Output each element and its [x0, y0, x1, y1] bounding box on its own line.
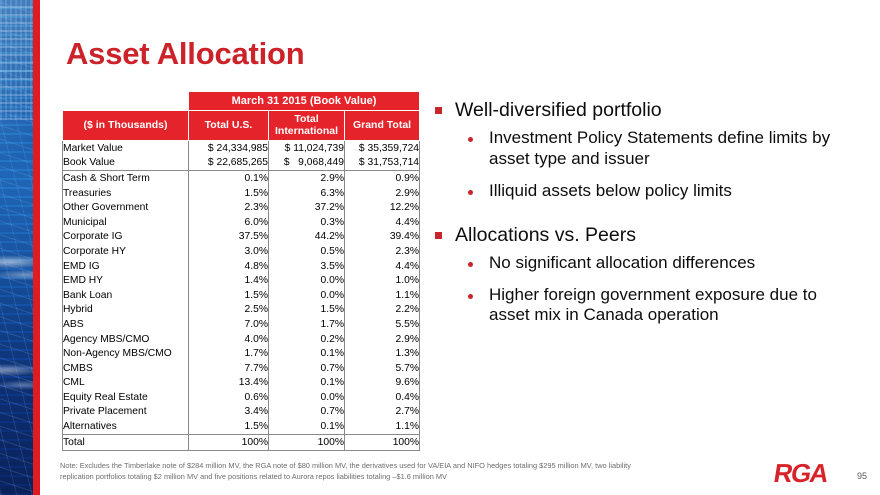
table-row: Agency MBS/CMO4.0%0.2%2.9%	[63, 332, 420, 347]
cell-grand-total: 12.2%	[345, 200, 420, 215]
table-row: Equity Real Estate0.6%0.0%0.4%	[63, 390, 420, 405]
table-header-columns-row: ($ in Thousands) Total U.S. Total Intern…	[63, 111, 420, 141]
column-header-label: ($ in Thousands)	[63, 111, 189, 141]
table-row: EMD IG4.8%3.5%4.4%	[63, 259, 420, 274]
column-header-grand-total: Grand Total	[345, 111, 420, 141]
cell-grand-total: 0.4%	[345, 390, 420, 405]
cell-total-international: $ 11,024,739	[269, 141, 345, 156]
cell-total-international: 0.1%	[269, 419, 345, 434]
row-label: Municipal	[63, 215, 189, 230]
table-row: Treasuries1.5%6.3%2.9%	[63, 186, 420, 201]
bullet-group-spacer	[432, 213, 872, 223]
table-header: March 31 2015 (Book Value) ($ in Thousan…	[63, 92, 420, 141]
square-bullet-icon	[435, 232, 442, 239]
table-row: Non-Agency MBS/CMO1.7%0.1%1.3%	[63, 346, 420, 361]
column-header-intl-line2: International	[275, 125, 338, 137]
table-row: Cash & Short Term0.1%2.9%0.9%	[63, 171, 420, 186]
cell-grand-total: $ 31,753,714	[345, 156, 420, 171]
cell-total-international: 0.0%	[269, 288, 345, 303]
row-label: Alternatives	[63, 419, 189, 434]
cell-total-us: 4.8%	[189, 259, 269, 274]
cell-grand-total: 0.9%	[345, 171, 420, 186]
cell-total-international: 0.1%	[269, 376, 345, 391]
cell-total-international: $ 9,068,449	[269, 156, 345, 171]
financial-graphic-image	[0, 0, 33, 495]
column-header-total-international: Total International	[269, 111, 345, 141]
page-number: 95	[857, 471, 867, 481]
cell-total-us: 6.0%	[189, 215, 269, 230]
cell-total-international: 0.5%	[269, 244, 345, 259]
row-label: CML	[63, 376, 189, 391]
cell-total-international: 0.0%	[269, 273, 345, 288]
bullet-level1-text: Well-diversified portfolio	[455, 98, 662, 122]
cell-grand-total: 1.1%	[345, 419, 420, 434]
cell-total-international: 2.9%	[269, 171, 345, 186]
asset-allocation-table: March 31 2015 (Book Value) ($ in Thousan…	[62, 91, 420, 451]
row-label: Treasuries	[63, 186, 189, 201]
bullet-level2-text: Illiquid assets below policy limits	[489, 181, 732, 202]
cell-grand-total: 2.9%	[345, 186, 420, 201]
row-label: Agency MBS/CMO	[63, 332, 189, 347]
cell-total-us: 7.7%	[189, 361, 269, 376]
table-row: Market Value$ 24,334,985$ 11,024,739$ 35…	[63, 141, 420, 156]
cell-total-us: $ 22,685,265	[189, 156, 269, 171]
table-row: EMD HY1.4%0.0%1.0%	[63, 273, 420, 288]
cell-grand-total: 1.1%	[345, 288, 420, 303]
bullet-level2: Investment Policy Statements define limi…	[468, 128, 872, 169]
table-row: Corporate IG37.5%44.2%39.4%	[63, 230, 420, 245]
cell-total-international: 0.1%	[269, 346, 345, 361]
bullet-level2: Higher foreign government exposure due t…	[468, 285, 872, 326]
cell-total-us: 100%	[189, 434, 269, 450]
cell-grand-total: 4.4%	[345, 215, 420, 230]
cell-grand-total: $ 35,359,724	[345, 141, 420, 156]
table-row: CMBS7.7%0.7%5.7%	[63, 361, 420, 376]
page-title: Asset Allocation	[66, 36, 305, 72]
cell-total-us: 7.0%	[189, 317, 269, 332]
row-label: EMD HY	[63, 273, 189, 288]
cell-total-international: 0.0%	[269, 390, 345, 405]
cell-total-international: 37.2%	[269, 200, 345, 215]
table-row: Municipal6.0%0.3%4.4%	[63, 215, 420, 230]
table-value-rows: Market Value$ 24,334,985$ 11,024,739$ 35…	[63, 141, 420, 171]
table-row: Hybrid2.5%1.5%2.2%	[63, 303, 420, 318]
row-label: Equity Real Estate	[63, 390, 189, 405]
cell-total-us: 13.4%	[189, 376, 269, 391]
cell-grand-total: 2.2%	[345, 303, 420, 318]
cell-total-us: 0.1%	[189, 171, 269, 186]
cell-total-international: 0.7%	[269, 405, 345, 420]
dot-bullet-icon	[468, 262, 473, 267]
table-row: Other Government2.3%37.2%12.2%	[63, 200, 420, 215]
row-label: Other Government	[63, 200, 189, 215]
cell-total-us: 1.7%	[189, 346, 269, 361]
table-row: ABS7.0%1.7%5.5%	[63, 317, 420, 332]
bullet-level2-text: No significant allocation differences	[489, 253, 755, 274]
cell-total-international: 44.2%	[269, 230, 345, 245]
cell-grand-total: 100%	[345, 434, 420, 450]
table-total-row: Total100%100%100%	[63, 434, 420, 450]
table-row: Corporate HY3.0%0.5%2.3%	[63, 244, 420, 259]
row-label: Market Value	[63, 141, 189, 156]
bullet-level1: Well-diversified portfolio	[432, 98, 872, 122]
cell-grand-total: 9.6%	[345, 376, 420, 391]
cell-total-us: $ 24,334,985	[189, 141, 269, 156]
dot-bullet-icon	[468, 294, 473, 299]
cell-total-international: 6.3%	[269, 186, 345, 201]
row-label: Corporate IG	[63, 230, 189, 245]
row-label: CMBS	[63, 361, 189, 376]
header-period-title: March 31 2015 (Book Value)	[189, 92, 420, 111]
slide-left-edge	[0, 0, 40, 495]
bullet-level1-text: Allocations vs. Peers	[455, 223, 636, 247]
cell-total-international: 0.7%	[269, 361, 345, 376]
cell-total-us: 1.5%	[189, 186, 269, 201]
column-header-intl-line1: Total	[294, 113, 318, 125]
asset-allocation-table-container: March 31 2015 (Book Value) ($ in Thousan…	[62, 91, 419, 451]
cell-grand-total: 5.5%	[345, 317, 420, 332]
cell-total-international: 0.2%	[269, 332, 345, 347]
cell-grand-total: 2.3%	[345, 244, 420, 259]
cell-total-us: 1.4%	[189, 273, 269, 288]
cell-total-us: 3.4%	[189, 405, 269, 420]
bullet-level1: Allocations vs. Peers	[432, 223, 872, 247]
row-label: EMD IG	[63, 259, 189, 274]
cell-total-us: 37.5%	[189, 230, 269, 245]
cell-total-us: 3.0%	[189, 244, 269, 259]
footnote: Note: Excludes the Timberlake note of $2…	[60, 461, 650, 482]
table-row: Bank Loan1.5%0.0%1.1%	[63, 288, 420, 303]
row-label: Cash & Short Term	[63, 171, 189, 186]
cell-grand-total: 2.9%	[345, 332, 420, 347]
cell-total-us: 0.6%	[189, 390, 269, 405]
bullet-level2-text: Investment Policy Statements define limi…	[489, 128, 859, 169]
red-accent-bar	[33, 0, 40, 495]
row-label: Hybrid	[63, 303, 189, 318]
bullet-level2: No significant allocation differences	[468, 253, 872, 274]
row-label: Bank Loan	[63, 288, 189, 303]
cell-grand-total: 1.3%	[345, 346, 420, 361]
row-label: Non-Agency MBS/CMO	[63, 346, 189, 361]
cell-grand-total: 2.7%	[345, 405, 420, 420]
cell-grand-total: 39.4%	[345, 230, 420, 245]
cell-grand-total: 1.0%	[345, 273, 420, 288]
cell-total-international: 100%	[269, 434, 345, 450]
table-row: Book Value$ 22,685,265$ 9,068,449$ 31,75…	[63, 156, 420, 171]
cell-total-us: 2.5%	[189, 303, 269, 318]
bullet-level2: Illiquid assets below policy limits	[468, 181, 872, 202]
cell-grand-total: 4.4%	[345, 259, 420, 274]
table-row: Alternatives1.5%0.1%1.1%	[63, 419, 420, 434]
table-row: CML13.4%0.1%9.6%	[63, 376, 420, 391]
cell-total-international: 1.5%	[269, 303, 345, 318]
cell-total-us: 1.5%	[189, 288, 269, 303]
row-label: Book Value	[63, 156, 189, 171]
dot-bullet-icon	[468, 137, 473, 142]
cell-total-us: 1.5%	[189, 419, 269, 434]
cell-grand-total: 5.7%	[345, 361, 420, 376]
header-spacer	[63, 92, 189, 111]
column-header-total-us: Total U.S.	[189, 111, 269, 141]
cell-total-international: 0.3%	[269, 215, 345, 230]
cell-total-international: 1.7%	[269, 317, 345, 332]
bullet-list: Well-diversified portfolioInvestment Pol…	[432, 98, 872, 337]
row-label: ABS	[63, 317, 189, 332]
table-row: Private Placement3.4%0.7%2.7%	[63, 405, 420, 420]
dot-bullet-icon	[468, 190, 473, 195]
table-allocation-rows: Cash & Short Term0.1%2.9%0.9%Treasuries1…	[63, 171, 420, 435]
rga-logo-text: RGA	[772, 458, 830, 489]
rga-logo: RGA	[774, 458, 827, 489]
row-label: Private Placement	[63, 405, 189, 420]
cell-total-us: 4.0%	[189, 332, 269, 347]
cell-total-us: 2.3%	[189, 200, 269, 215]
table-total-row-group: Total100%100%100%	[63, 434, 420, 450]
square-bullet-icon	[435, 107, 442, 114]
cell-total-international: 3.5%	[269, 259, 345, 274]
table-header-span-row: March 31 2015 (Book Value)	[63, 92, 420, 111]
row-label: Corporate HY	[63, 244, 189, 259]
bullet-level2-text: Higher foreign government exposure due t…	[489, 285, 859, 326]
row-label: Total	[63, 434, 189, 450]
